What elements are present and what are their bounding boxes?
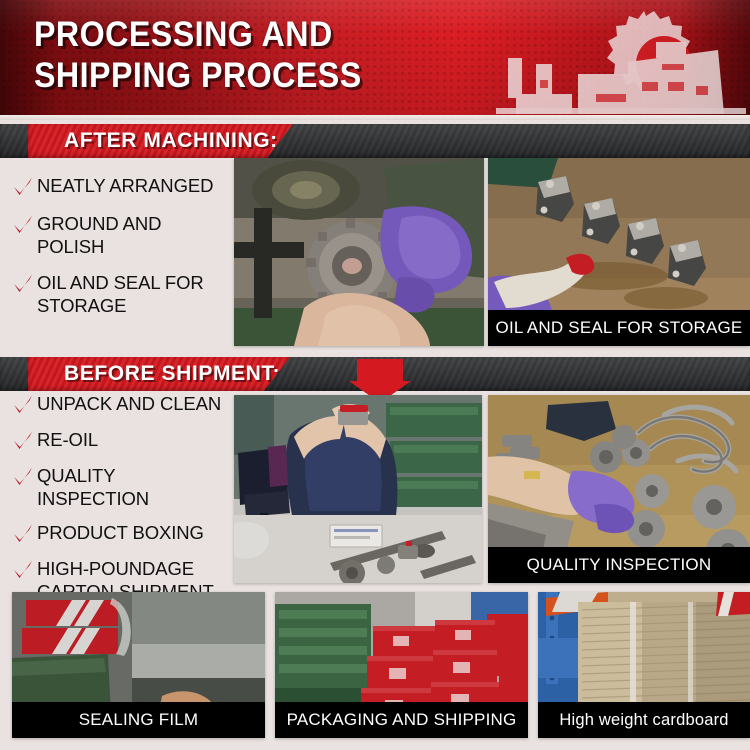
list-item-label: RE-OIL <box>37 428 98 451</box>
photo-caption: SEALING FILM <box>12 702 265 738</box>
list-item-label: UNPACK AND CLEAN <box>37 392 221 415</box>
check-mark-icon <box>12 175 34 199</box>
packaging-and-shipping-photo: PACKAGING AND SHIPPING <box>275 592 528 738</box>
factory-gear-icon <box>496 2 746 114</box>
section-tab-after-machining: AFTER MACHINING: <box>28 124 293 158</box>
sealing-film-photo: SEALING FILM <box>12 592 265 738</box>
grinding-photo-image <box>234 158 484 346</box>
list-item-label: NEATLY ARRANGED <box>37 174 213 197</box>
header-banner: PROCESSING AND SHIPPING PROCESS <box>0 0 750 120</box>
check-mark-icon <box>12 465 34 489</box>
page-title: PROCESSING AND SHIPPING PROCESS <box>34 14 466 96</box>
checklist-before-shipment: UNPACK AND CLEAN RE-OIL QUALITY INSPECTI… <box>12 392 232 614</box>
list-item: NEATLY ARRANGED <box>12 174 227 199</box>
header-divider <box>0 115 750 120</box>
page-title-line1: PROCESSING AND <box>34 14 466 55</box>
check-mark-icon <box>12 393 34 417</box>
photo-caption: High weight cardboard <box>538 702 750 738</box>
oil-and-seal-photo: OIL AND SEAL FOR STORAGE <box>488 158 750 346</box>
list-item-label: PRODUCT BOXING <box>37 521 204 544</box>
list-item: GROUND AND POLISH <box>12 212 227 258</box>
check-mark-icon <box>12 213 34 237</box>
photo-caption: PACKAGING AND SHIPPING <box>275 702 528 738</box>
list-item: OIL AND SEAL FOR STORAGE <box>12 271 227 317</box>
list-item: QUALITY INSPECTION <box>12 464 232 510</box>
check-mark-icon <box>12 429 34 453</box>
check-mark-icon <box>12 272 34 296</box>
list-item-label: QUALITY INSPECTION <box>37 464 232 510</box>
section-tab-label: BEFORE SHIPMENT: <box>64 362 280 386</box>
high-weight-cardboard-photo: High weight cardboard <box>538 592 750 738</box>
list-item-label: OIL AND SEAL FOR STORAGE <box>37 271 227 317</box>
list-item: RE-OIL <box>12 428 232 453</box>
photo-caption: OIL AND SEAL FOR STORAGE <box>488 310 750 346</box>
section-tab-before-shipment: BEFORE SHIPMENT: <box>28 357 290 391</box>
list-item: UNPACK AND CLEAN <box>12 392 232 417</box>
grinding-photo <box>234 158 484 346</box>
check-mark-icon <box>12 522 34 546</box>
list-item: PRODUCT BOXING <box>12 521 232 546</box>
photo-caption: QUALITY INSPECTION <box>488 547 750 583</box>
section-tab-label: AFTER MACHINING: <box>64 129 278 153</box>
quality-inspection-photo: QUALITY INSPECTION <box>488 395 750 583</box>
unpack-and-clean-photo <box>234 395 482 583</box>
list-item-label: GROUND AND POLISH <box>37 212 227 258</box>
checklist-after-machining: NEATLY ARRANGED GROUND AND POLISH OIL AN… <box>12 174 227 330</box>
check-mark-icon <box>12 558 34 582</box>
infographic-page: PROCESSING AND SHIPPING PROCESS AFTER MA… <box>0 0 750 750</box>
page-title-line2: SHIPPING PROCESS <box>34 55 466 96</box>
unpack-and-clean-photo-image <box>234 395 482 583</box>
